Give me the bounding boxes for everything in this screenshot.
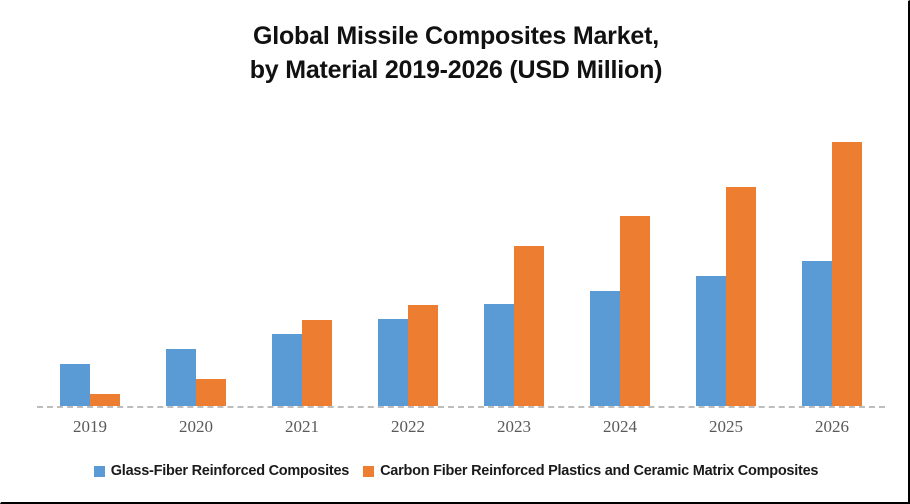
bar-2019-series-2 [90, 394, 120, 406]
chart-container: Global Missile Composites Market, by Mat… [0, 0, 910, 504]
x-tick-label-2019: 2019 [37, 417, 143, 437]
x-tick-label-2022: 2022 [355, 417, 461, 437]
plot-area [1, 1, 910, 421]
bar-2021-series-1 [272, 334, 302, 406]
legend-label-1: Glass-Fiber Reinforced Composites [111, 463, 349, 479]
x-axis-line [37, 406, 885, 408]
legend-item-2[interactable]: Carbon Fiber Reinforced Plastics and Cer… [363, 463, 818, 479]
bar-2022-series-1 [378, 319, 408, 406]
bar-2025-series-2 [726, 187, 756, 406]
x-axis-tick-labels: 20192020202120222023202420252026 [1, 417, 910, 447]
chart-legend: Glass-Fiber Reinforced CompositesCarbon … [1, 463, 910, 479]
x-tick-label-2021: 2021 [249, 417, 355, 437]
legend-label-2: Carbon Fiber Reinforced Plastics and Cer… [380, 463, 818, 479]
x-tick-label-2026: 2026 [779, 417, 885, 437]
bar-2023-series-2 [514, 246, 544, 406]
bar-2022-series-2 [408, 305, 438, 406]
legend-swatch-orange [363, 466, 374, 477]
legend-swatch-blue [94, 466, 105, 477]
x-tick-label-2023: 2023 [461, 417, 567, 437]
bar-2019-series-1 [60, 364, 90, 406]
x-tick-label-2020: 2020 [143, 417, 249, 437]
legend-item-1[interactable]: Glass-Fiber Reinforced Composites [94, 463, 349, 479]
bar-2026-series-2 [832, 142, 862, 406]
bar-2026-series-1 [802, 261, 832, 406]
bar-2021-series-2 [302, 320, 332, 406]
bar-2024-series-1 [590, 291, 620, 406]
bar-2020-series-1 [166, 349, 196, 406]
bar-2024-series-2 [620, 216, 650, 406]
x-tick-label-2025: 2025 [673, 417, 779, 437]
bar-2023-series-1 [484, 304, 514, 406]
bar-2025-series-1 [696, 276, 726, 406]
x-tick-label-2024: 2024 [567, 417, 673, 437]
bar-series-layer [1, 1, 910, 421]
bar-2020-series-2 [196, 379, 226, 406]
